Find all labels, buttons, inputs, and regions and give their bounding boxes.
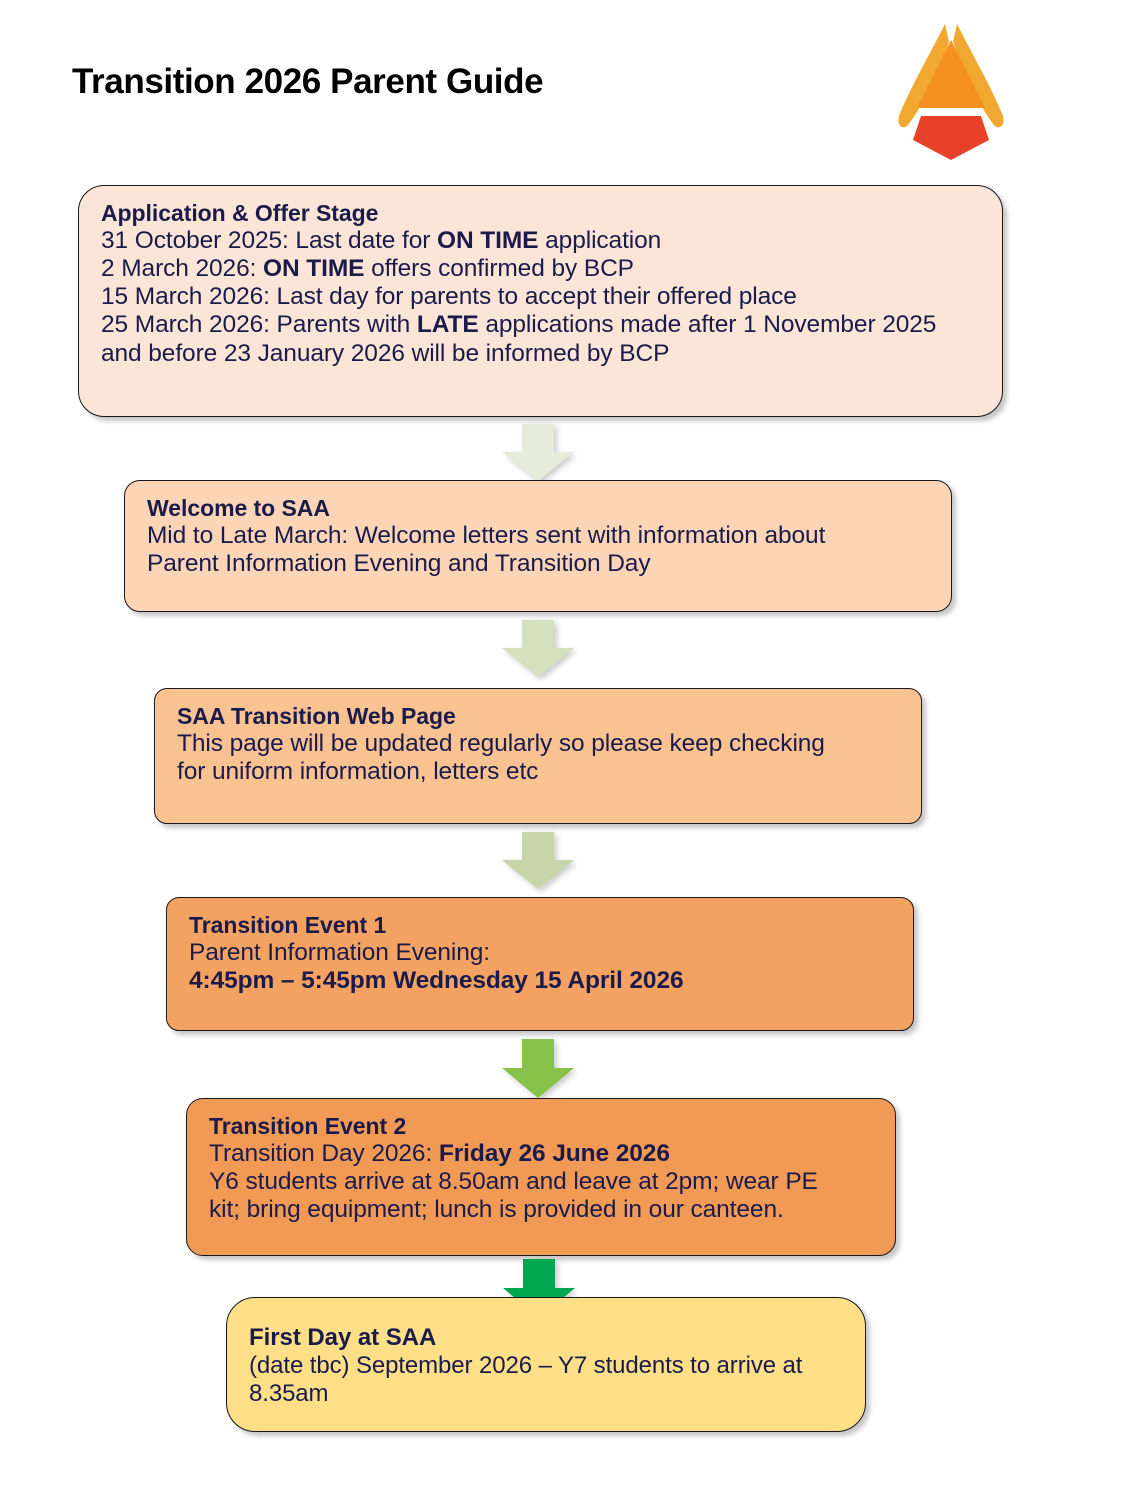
flow-node-welcome-to-saa: Welcome to SAA Mid to Late March: Welcom…	[124, 480, 952, 612]
flow-node-saa-transition-web-page: SAA Transition Web Page This page will b…	[154, 688, 922, 824]
node-line: kit; bring equipment; lunch is provided …	[209, 1196, 877, 1224]
node-line: Parent Information Evening and Transitio…	[147, 550, 933, 578]
transition-flowchart: Application & Offer Stage 31 October 202…	[0, 0, 1125, 1500]
arrow-down-icon-1	[500, 424, 576, 482]
arrow-down-icon-3	[500, 832, 576, 890]
node-line: Y6 students arrive at 8.50am and leave a…	[209, 1168, 877, 1196]
node-line: for uniform information, letters etc	[177, 758, 903, 786]
flow-node-first-day-at-saa: First Day at SAA (date tbc) September 20…	[226, 1297, 866, 1432]
flow-node-transition-event-2: Transition Event 2 Transition Day 2026: …	[186, 1098, 896, 1256]
node-line: 2 March 2026: ON TIME offers confirmed b…	[101, 255, 984, 283]
node-heading: Transition Event 1	[189, 912, 895, 939]
node-line: 25 March 2026: Parents with LATE applica…	[101, 311, 984, 339]
node-heading: SAA Transition Web Page	[177, 703, 903, 730]
flow-node-transition-event-1: Transition Event 1 Parent Information Ev…	[166, 897, 914, 1031]
node-line: and before 23 January 2026 will be infor…	[101, 340, 984, 368]
node-line: 31 October 2025: Last date for ON TIME a…	[101, 227, 984, 255]
arrow-down-icon-4	[500, 1039, 576, 1099]
flow-node-application-offer-stage: Application & Offer Stage 31 October 202…	[78, 185, 1003, 417]
node-line: Transition Day 2026: Friday 26 June 2026	[209, 1140, 877, 1168]
node-line: This page will be updated regularly so p…	[177, 730, 903, 758]
node-line: (date tbc) September 2026 – Y7 students …	[249, 1352, 847, 1379]
arrow-down-icon-2	[500, 620, 576, 678]
node-heading: Welcome to SAA	[147, 495, 933, 522]
node-line: 8.35am	[249, 1380, 847, 1407]
node-line: 4:45pm – 5:45pm Wednesday 15 April 2026	[189, 967, 895, 995]
node-line: Mid to Late March: Welcome letters sent …	[147, 522, 933, 550]
node-heading: Application & Offer Stage	[101, 200, 984, 227]
node-line: Parent Information Evening:	[189, 939, 895, 967]
node-heading: Transition Event 2	[209, 1113, 877, 1140]
node-line: 15 March 2026: Last day for parents to a…	[101, 283, 984, 311]
node-heading: First Day at SAA	[249, 1324, 847, 1352]
